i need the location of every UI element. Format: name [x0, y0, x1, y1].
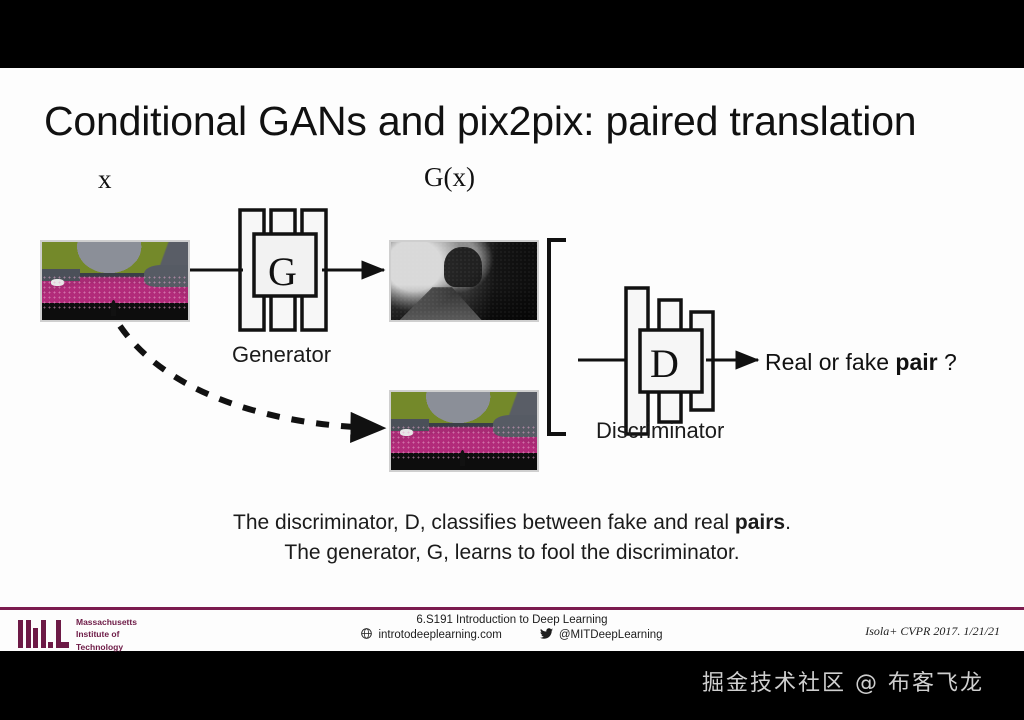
- verdict-text: Real or fake pair ?: [765, 349, 957, 376]
- watermark-text: 掘金技术社区 @ 布客飞龙: [0, 665, 1024, 697]
- twitter-icon: [540, 628, 553, 642]
- caption-line-1-after: .: [785, 511, 791, 534]
- slide-footer: Massachusetts Institute of Technology 6.…: [0, 610, 1024, 651]
- pair-grouping-bracket: [549, 240, 566, 434]
- website-link[interactable]: introtodeeplearning.com: [378, 629, 501, 641]
- source-credit: Isola+ CVPR 2017. 1/21/21: [865, 624, 1000, 639]
- verdict-prefix: Real or fake: [765, 349, 895, 375]
- screenshot-stage: Conditional GANs and pix2pix: paired tra…: [0, 0, 1024, 720]
- twitter-handle[interactable]: @MITDeepLearning: [559, 629, 663, 641]
- discriminator-caption: Discriminator: [596, 418, 724, 444]
- discriminator-letter: D: [650, 340, 679, 387]
- globe-icon: [361, 628, 372, 642]
- generator-caption: Generator: [232, 342, 331, 368]
- verdict-emphasis: pair: [895, 349, 937, 375]
- caption-line-1-before: The discriminator, D, classifies between…: [233, 511, 735, 534]
- caption-line-1-bold: pairs: [735, 511, 785, 534]
- slide-captions: The discriminator, D, classifies between…: [0, 508, 1024, 569]
- caption-line-2: The generator, G, learns to fool the dis…: [0, 538, 1024, 568]
- caption-line-1: The discriminator, D, classifies between…: [0, 508, 1024, 538]
- slide-canvas: Conditional GANs and pix2pix: paired tra…: [0, 68, 1024, 651]
- generator-letter: G: [268, 248, 297, 295]
- mit-line-3: Technology: [76, 641, 137, 653]
- verdict-suffix: ?: [938, 349, 957, 375]
